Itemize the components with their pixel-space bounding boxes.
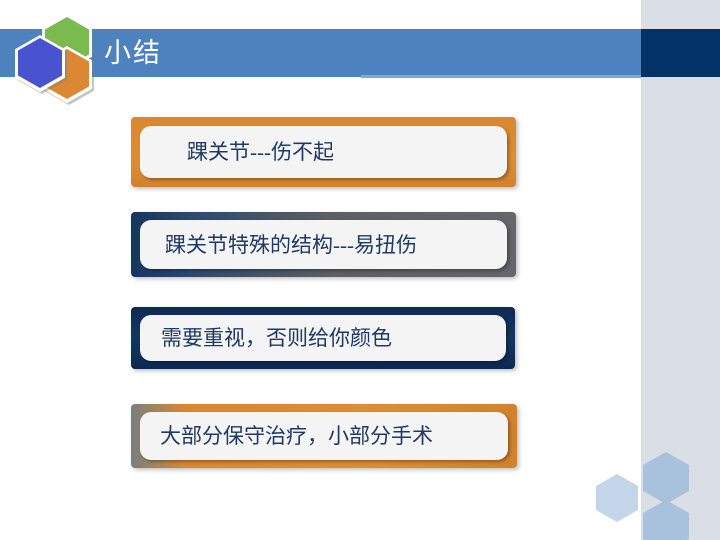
summary-box-4-inner: 大部分保守治疗，小部分手术	[140, 412, 508, 460]
summary-box-1: 踝关节---伤不起	[131, 117, 516, 187]
header-band-accent	[641, 29, 720, 77]
summary-box-4: 大部分保守治疗，小部分手术	[131, 404, 517, 468]
logo-hexagons	[12, 12, 102, 88]
decorative-hexagon-bottom-right	[643, 500, 689, 540]
page-title: 小结	[104, 33, 162, 73]
decorative-hexagons	[596, 452, 720, 540]
slide-canvas: 小结 踝关节---伤不起 踝关节特殊的结构---易扭伤 需要重视，否则给你颜色 …	[0, 0, 720, 540]
header-underline	[361, 75, 641, 78]
summary-box-1-inner: 踝关节---伤不起	[140, 126, 507, 178]
summary-box-2: 踝关节特殊的结构---易扭伤	[131, 212, 516, 277]
summary-box-4-text: 大部分保守治疗，小部分手术	[160, 423, 433, 449]
summary-box-2-inner: 踝关节特殊的结构---易扭伤	[140, 220, 507, 269]
summary-box-3-inner: 需要重视，否则给你颜色	[140, 315, 506, 361]
summary-box-3-text: 需要重视，否则给你颜色	[161, 325, 392, 351]
decorative-hexagon-left	[596, 474, 638, 522]
summary-box-2-text: 踝关节特殊的结构---易扭伤	[165, 232, 417, 258]
summary-box-1-text: 踝关节---伤不起	[187, 139, 334, 165]
summary-box-3: 需要重视，否则给你颜色	[131, 307, 515, 369]
decorative-hexagon-top-right	[643, 452, 689, 504]
